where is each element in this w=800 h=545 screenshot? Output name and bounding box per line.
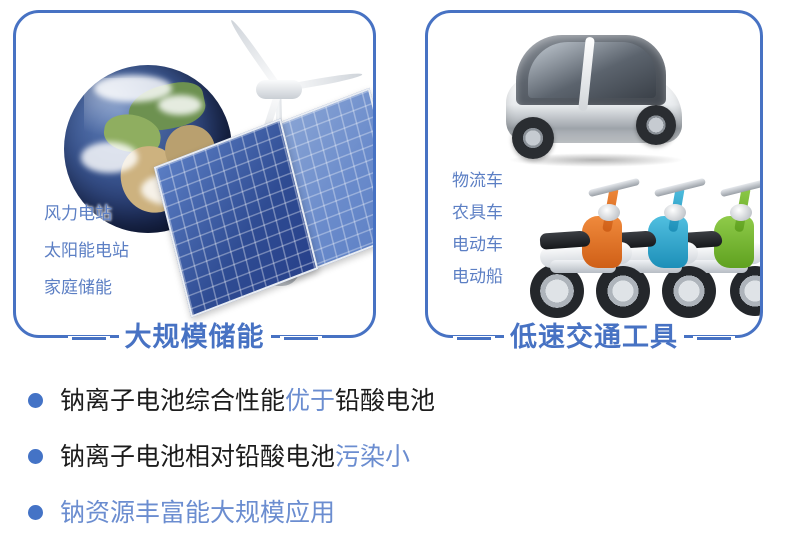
- feature-electric-vehicle: 电动车: [452, 237, 503, 254]
- bullet-item: 钠离子电池综合性能优于铅酸电池: [0, 372, 800, 428]
- scooter-headlight: [598, 204, 620, 221]
- car-wheel: [636, 105, 676, 145]
- caption-dash-left: [453, 336, 495, 340]
- scooter-orange: [526, 178, 648, 326]
- bullet-dot-icon: [28, 393, 43, 408]
- bullet-dot-icon: [28, 505, 43, 520]
- electric-scooters-icon: [526, 178, 760, 328]
- card-large-scale-energy-storage[interactable]: 风力电站 太阳能电站 家庭储能 大规模储能: [13, 10, 376, 338]
- feature-farm-vehicle: 农具车: [452, 205, 503, 222]
- scooter-headlight: [664, 204, 686, 221]
- scooter-wheel: [664, 266, 714, 316]
- card-right-artwork: 物流车 农具车 电动车 电动船: [428, 13, 760, 335]
- feature-logistics-vehicle: 物流车: [452, 173, 503, 190]
- caption-dash-left: [68, 336, 110, 340]
- caption-dash-right: [280, 336, 322, 340]
- bullet-2-segment-highlight: 污染小: [335, 442, 410, 471]
- bullet-item: 钠资源丰富能大规模应用: [0, 484, 800, 540]
- feature-home-storage: 家庭储能: [44, 280, 129, 297]
- slide-root: 风力电站 太阳能电站 家庭储能 大规模储能: [0, 0, 800, 545]
- bullet-2-segment-plain: 钠离子电池相对铅酸电池: [60, 442, 335, 471]
- bullet-text-2: 钠离子电池相对铅酸电池污染小: [60, 444, 410, 469]
- car-wheel: [512, 117, 554, 159]
- caption-dash-right: [693, 336, 735, 340]
- bullet-text-1: 钠离子电池综合性能优于铅酸电池: [60, 388, 435, 413]
- scooter-headlight: [730, 204, 752, 221]
- bullet-3-segment-highlight: 钠资源丰富能大规模应用: [60, 498, 335, 527]
- bullet-text-3: 钠资源丰富能大规模应用: [60, 500, 335, 525]
- bullet-item: 钠离子电池相对铅酸电池污染小: [0, 428, 800, 484]
- card-left-feature-list: 风力电站 太阳能电站 家庭储能: [44, 206, 129, 297]
- bullet-1-segment-plain-b: 铅酸电池: [335, 386, 435, 415]
- scooter-wheel: [730, 266, 760, 316]
- bullet-list: 钠离子电池综合性能优于铅酸电池 钠离子电池相对铅酸电池污染小 钠资源丰富能大规模…: [0, 372, 800, 540]
- feature-wind-power-station: 风力电站: [44, 206, 129, 223]
- globe-cloud: [81, 142, 138, 172]
- turbine-nacelle: [256, 80, 302, 99]
- bullet-1-segment-highlight: 优于: [285, 386, 335, 415]
- card-low-speed-transport[interactable]: 物流车 农具车 电动车 电动船 低速交通工具: [425, 10, 763, 338]
- feature-electric-boat: 电动船: [452, 269, 503, 286]
- bullet-dot-icon: [28, 449, 43, 464]
- card-left-artwork: 风力电站 太阳能电站 家庭储能: [16, 13, 373, 335]
- card-right-feature-list: 物流车 农具车 电动车 电动船: [452, 173, 503, 301]
- globe-cloud: [94, 75, 171, 102]
- micro-electric-car-icon: [490, 21, 705, 181]
- bullet-1-segment-plain-a: 钠离子电池综合性能: [60, 386, 285, 415]
- scooter-wheel: [598, 266, 648, 316]
- feature-solar-power-station: 太阳能电站: [44, 243, 129, 260]
